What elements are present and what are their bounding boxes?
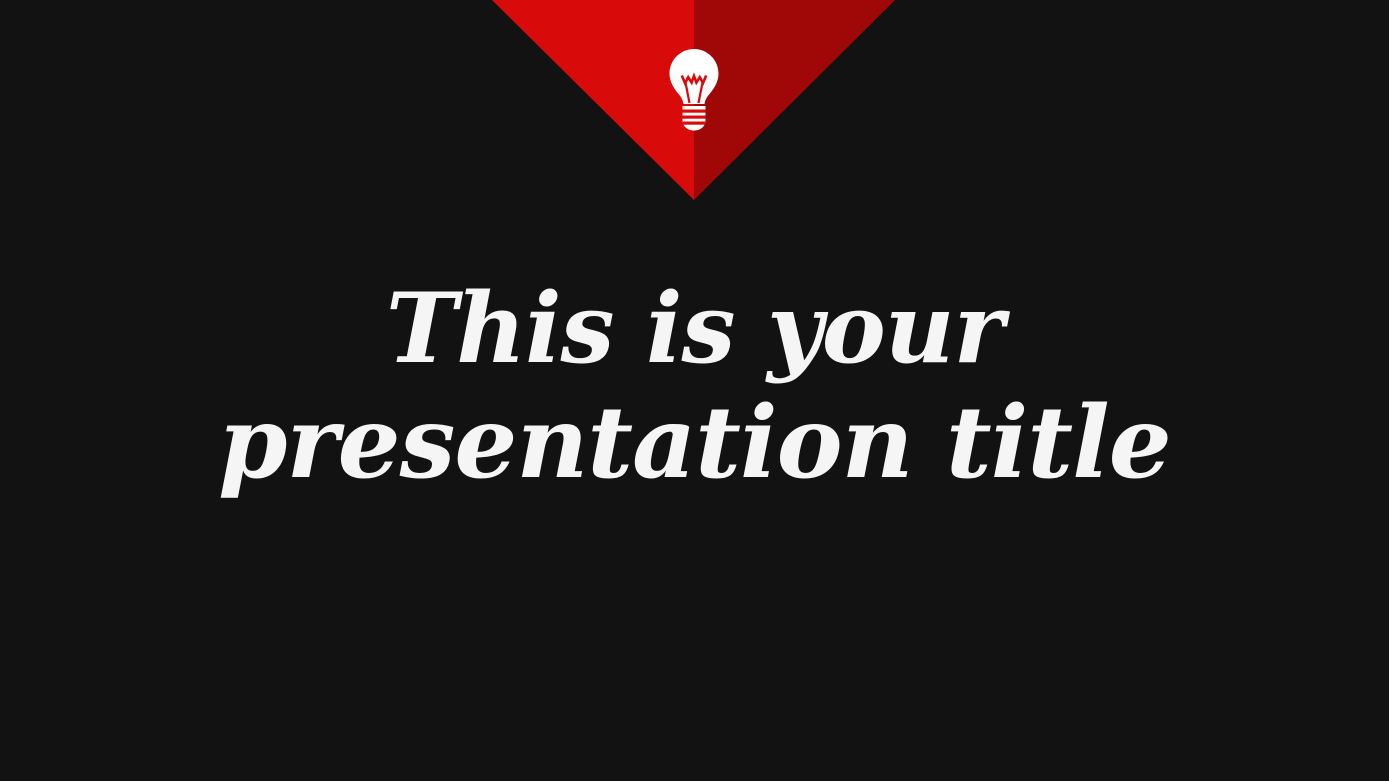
lightbulb-icon-glyph	[663, 47, 725, 132]
page-title: This is your presentation title	[0, 272, 1389, 500]
title-line-1: This is your	[0, 272, 1389, 386]
lightbulb-icon	[663, 47, 725, 132]
lightbulb-body	[670, 49, 719, 131]
presentation-title-slide: This is your presentation title	[0, 0, 1389, 781]
base-stripe-3	[683, 122, 705, 125]
title-line-2: presentation title	[0, 386, 1389, 500]
base-stripe-2	[683, 116, 706, 119]
base-stripe-1	[683, 110, 706, 113]
